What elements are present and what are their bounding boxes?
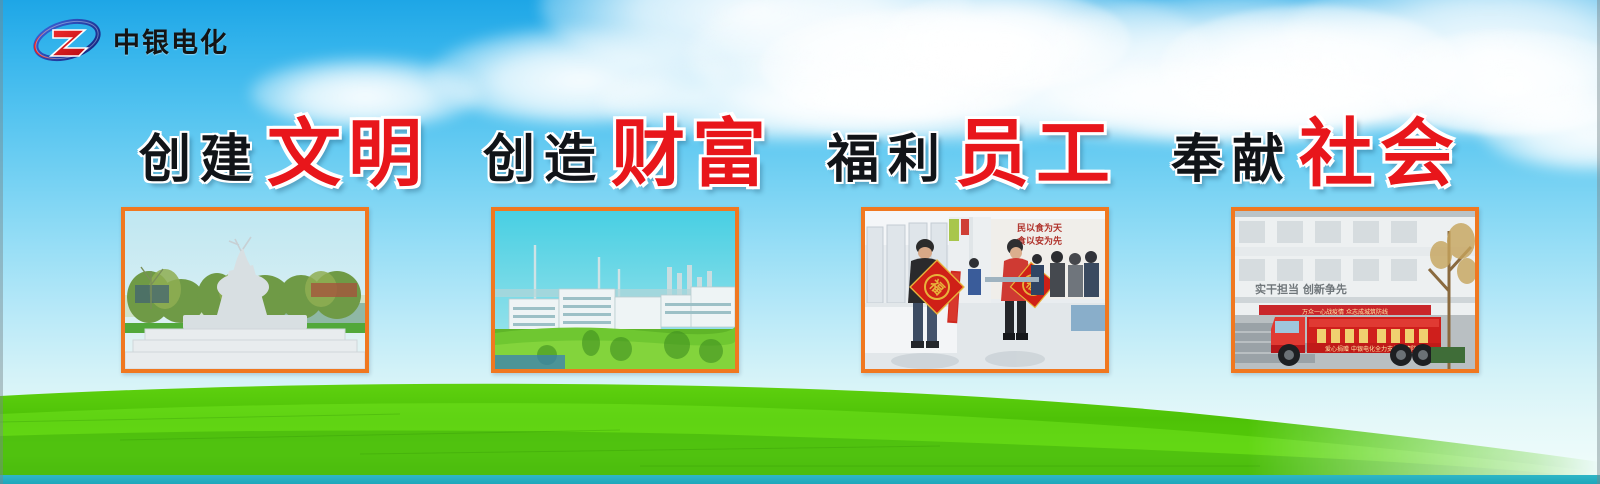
svg-text:食以安为先: 食以安为先: [1016, 235, 1062, 247]
bottom-strip: [0, 475, 1600, 484]
slogan-red-4: 社会: [1299, 117, 1461, 191]
svg-text:民以食为天: 民以食为天: [1017, 222, 1063, 234]
slogan-phrase-1: 创建 文明: [139, 117, 429, 191]
company-logo: 中银电化: [31, 14, 229, 66]
culture-banner: 中银电化 创建 文明 创造 财富 福利 员工 奉献 社会: [0, 0, 1600, 484]
slogan-red-3: 员工: [955, 117, 1117, 191]
photo-gallery: 民以食为天 食以安为先: [0, 207, 1600, 379]
slogan-phrase-4: 奉献 社会: [1171, 117, 1461, 191]
slogan-dark-3: 福利: [827, 134, 949, 186]
photo-deer-sculpture-park: [121, 207, 369, 373]
slogan-red-1: 文明: [267, 117, 429, 191]
slogan-dark-2: 创造: [483, 134, 605, 186]
slogan-red-2: 财富: [611, 117, 773, 191]
photo-canteen-spring-festival: 民以食为天 食以安为先: [861, 207, 1109, 373]
company-ellipse-z-logo-icon: [31, 14, 103, 66]
photo-chemical-plant: [491, 207, 739, 373]
slogan-dark-1: 创建: [139, 134, 261, 186]
slogan-phrase-3: 福利 员工: [827, 117, 1117, 191]
grass-field: [0, 374, 1600, 484]
slogan-dark-4: 奉献: [1171, 134, 1293, 186]
slogan-row: 创建 文明 创造 财富 福利 员工 奉献 社会: [0, 110, 1600, 198]
svg-text:万众一心战疫情 众志成城筑防线: 万众一心战疫情 众志成城筑防线: [1302, 308, 1388, 316]
company-name: 中银电化: [113, 21, 229, 60]
svg-text:实干担当 创新争先: 实干担当 创新争先: [1255, 282, 1347, 296]
photo-donation-truck: 实干担当 创新争先 万众一心战疫情 众志成城筑防线: [1231, 207, 1479, 373]
slogan-phrase-2: 创造 财富: [483, 117, 773, 191]
